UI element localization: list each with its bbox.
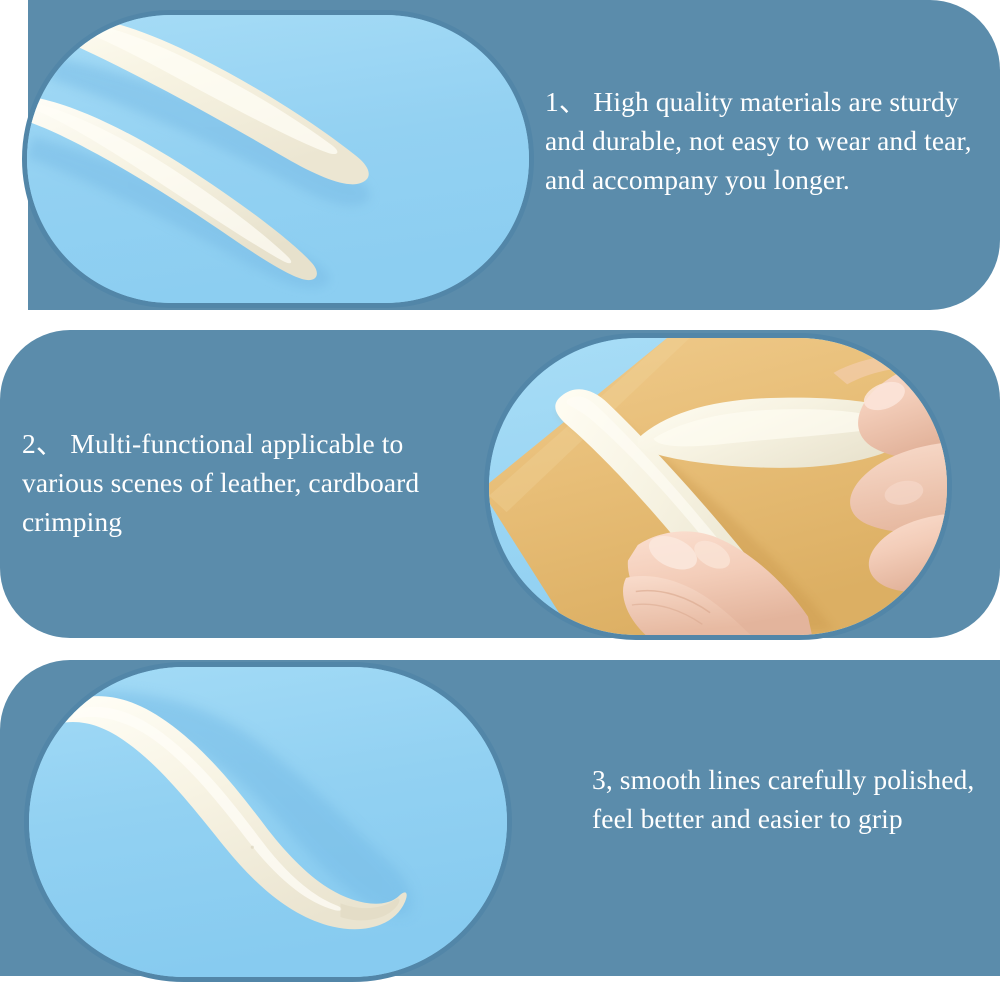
bone-folder-pair-illustration [27, 15, 529, 303]
feature-caption-2: 2、 Multi-functional applicable to variou… [22, 424, 462, 541]
curved-bone-folder-illustration [29, 667, 507, 977]
feature-caption-3: 3, smooth lines carefully polished, feel… [592, 760, 992, 838]
feature-photo-2 [484, 333, 952, 640]
hands-creasing-leather-illustration [489, 338, 947, 635]
feature-photo-3 [24, 662, 512, 982]
product-infographic: 1、 High quality materials are sturdy and… [0, 0, 1000, 976]
feature-caption-1: 1、 High quality materials are sturdy and… [545, 82, 995, 199]
feature-photo-1 [22, 10, 534, 308]
